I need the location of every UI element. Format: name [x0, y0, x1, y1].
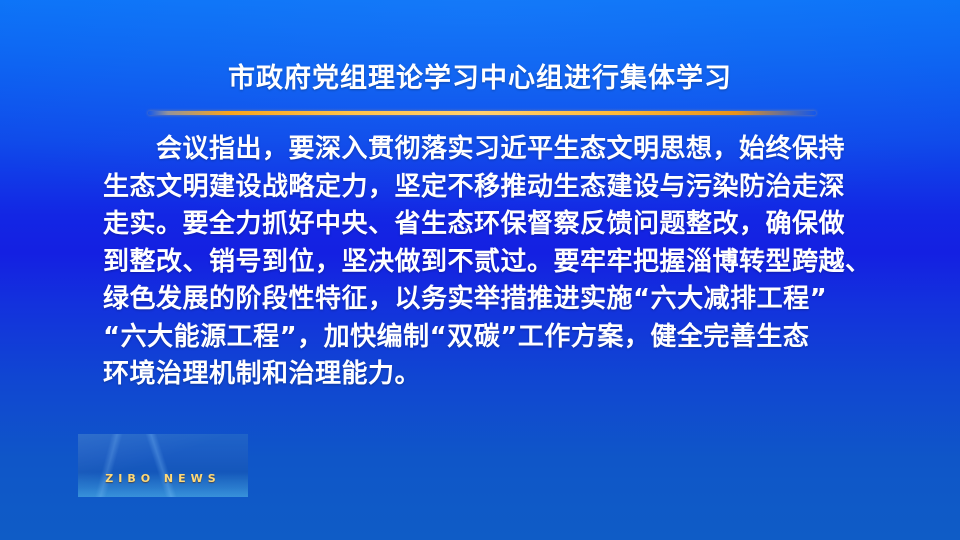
page-title: 市政府党组理论学习中心组进行集体学习: [228, 62, 732, 96]
logo-chinese-name: 淄博新闻: [85, 437, 241, 471]
body-line: 生态文明建设战略定力，坚定不移推动生态建设与污染防治走深: [103, 169, 857, 207]
body-line: 环境治理机制和治理能力。: [103, 356, 857, 394]
station-logo: 淄博新闻 ZIBO NEWS: [78, 434, 248, 497]
body-line: “六大能源工程”，加快编制“双碳”工作方案，健全完善生态: [103, 319, 857, 357]
logo-english-name: ZIBO NEWS: [85, 472, 241, 485]
body-line: 绿色发展的阶段性特征，以务实举措推进实施“六大减排工程”: [103, 281, 857, 319]
title-divider: [148, 111, 816, 115]
broadcast-news-slate: 市政府党组理论学习中心组进行集体学习 会议指出，要深入贯彻落实习近平生态文明思想…: [0, 0, 960, 540]
body-line: 到整改、销号到位，坚决做到不贰过。要牢牢把握淄博转型跨越、: [103, 244, 857, 282]
article-body: 会议指出，要深入贯彻落实习近平生态文明思想，始终保持 生态文明建设战略定力，坚定…: [103, 131, 857, 394]
body-line: 走实。要全力抓好中央、省生态环保督察反馈问题整改，确保做: [103, 206, 857, 244]
title-block: 市政府党组理论学习中心组进行集体学习: [0, 62, 960, 96]
body-line: 会议指出，要深入贯彻落实习近平生态文明思想，始终保持: [103, 131, 857, 169]
